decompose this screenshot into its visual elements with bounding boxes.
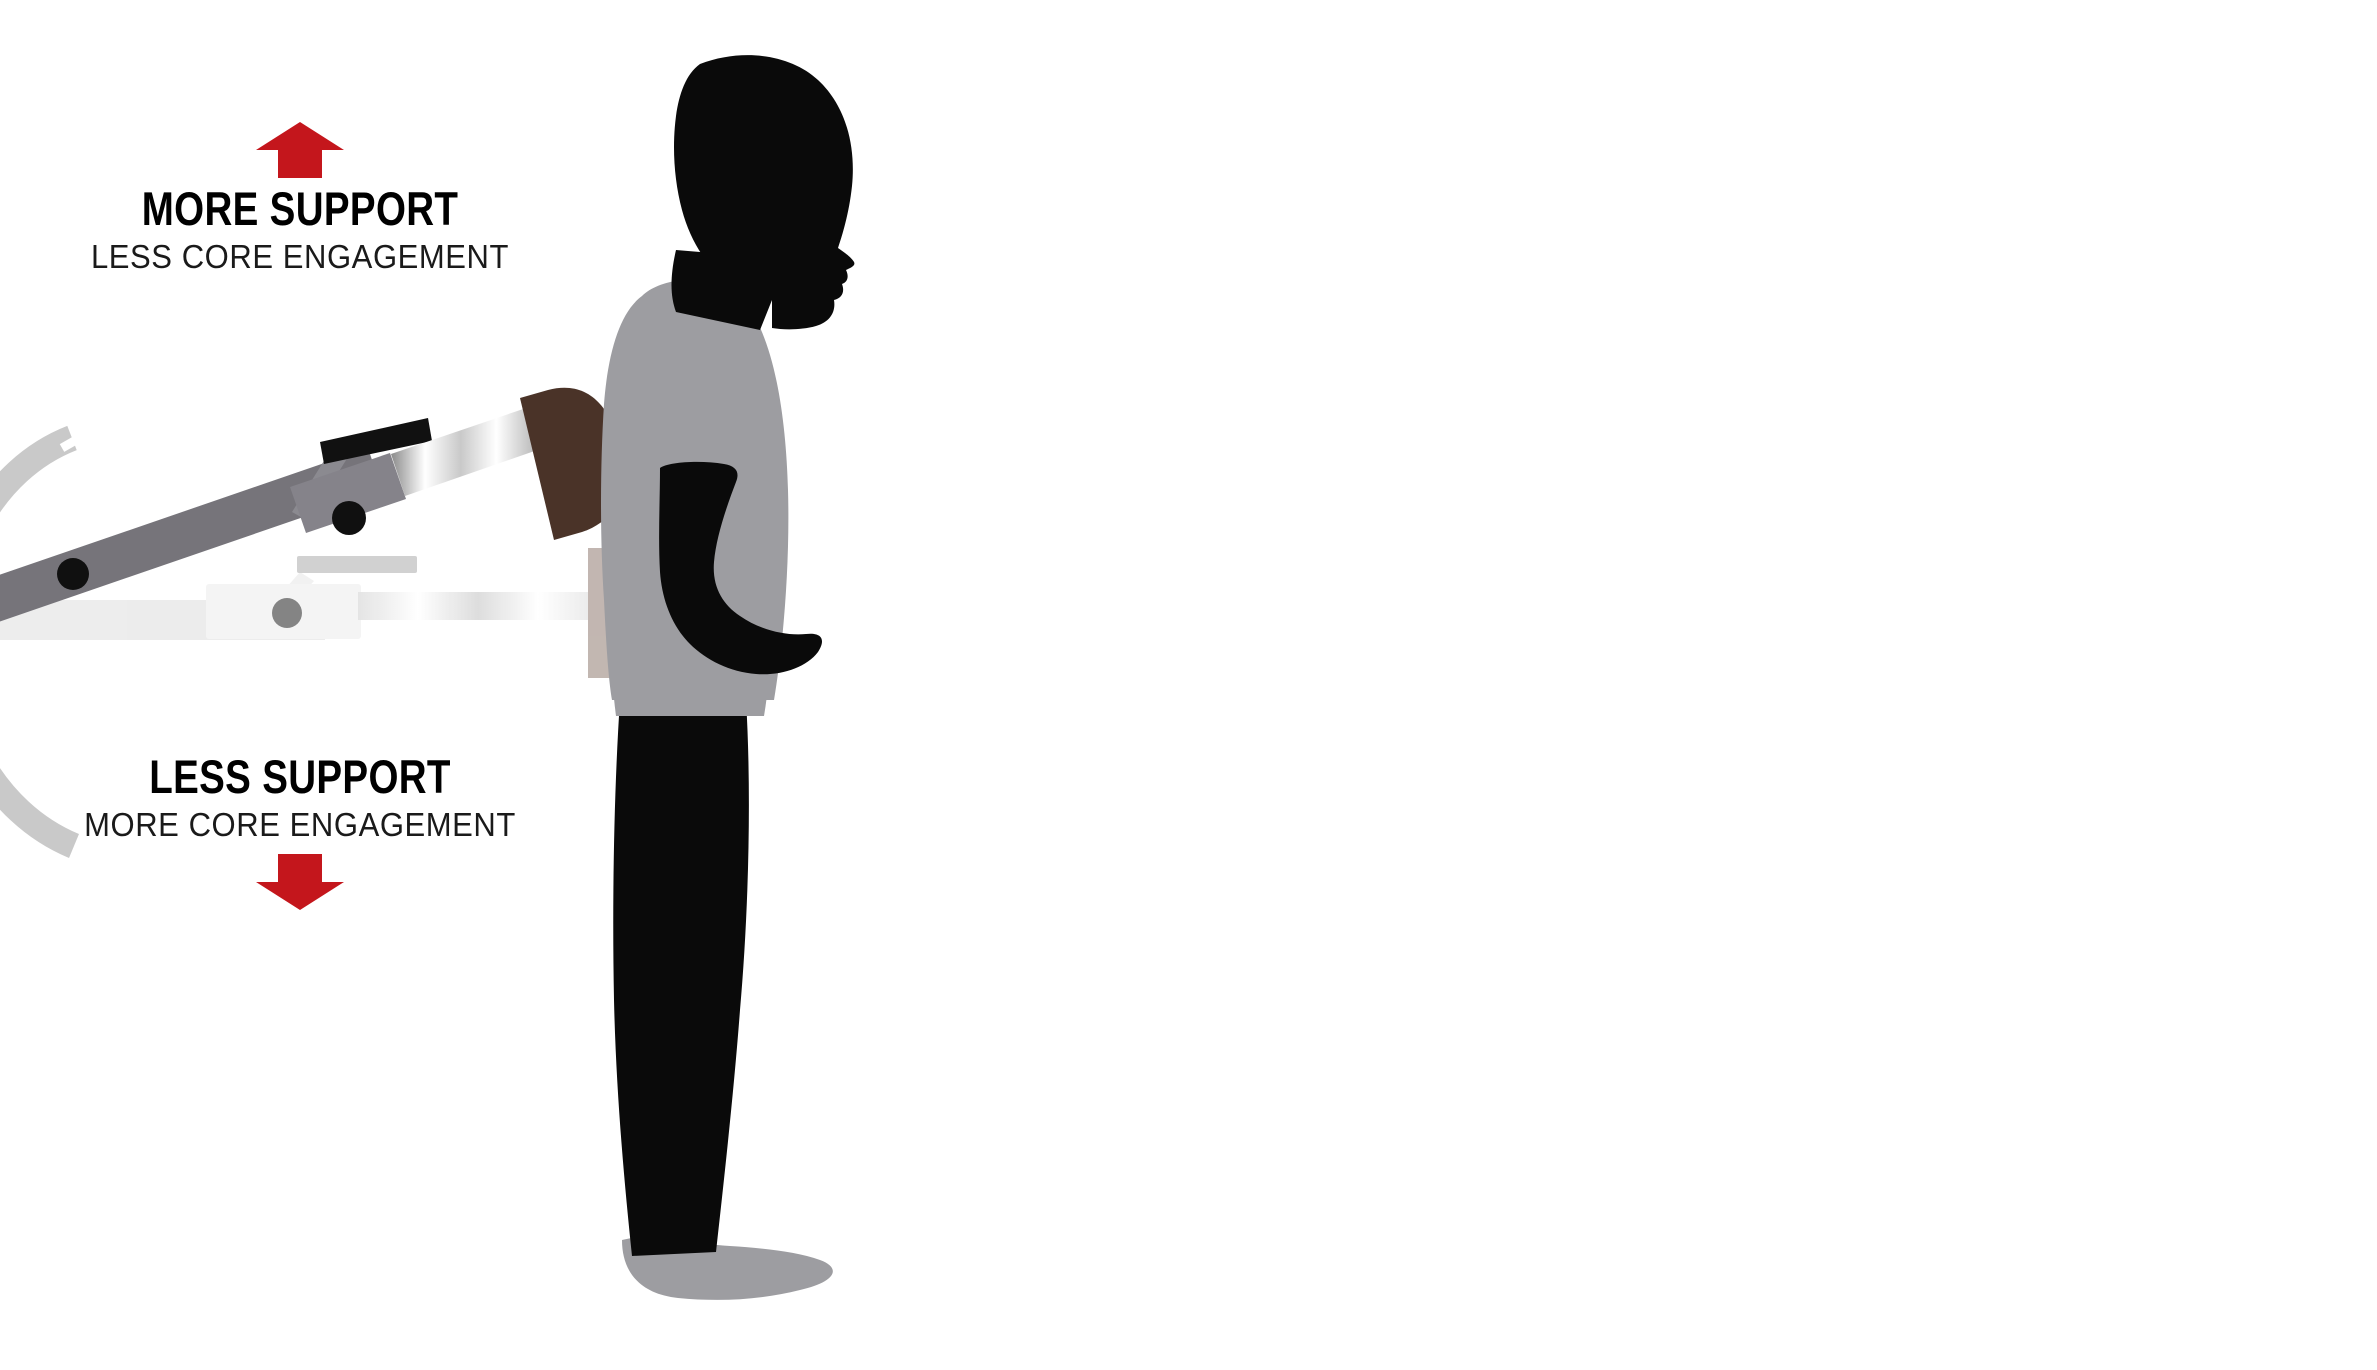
arrow-down-icon — [256, 854, 344, 912]
copy-pane: INCREASED LOAD CAPACITY The Life Fitness… — [1230, 0, 2377, 1370]
marketing-feature-page: MORE SUPPORT LESS CORE ENGAGEMENT LESS S… — [0, 0, 2377, 1370]
callout-more-support: MORE SUPPORT LESS CORE ENGAGEMENT — [20, 120, 580, 276]
illustration-pane: MORE SUPPORT LESS CORE ENGAGEMENT LESS S… — [0, 0, 1230, 1370]
callout-less-support: LESS SUPPORT MORE CORE ENGAGEMENT — [20, 752, 580, 912]
user-silhouette — [601, 55, 854, 1300]
callout-title: LESS SUPPORT — [70, 752, 529, 802]
callout-subtitle: LESS CORE ENGAGEMENT — [37, 238, 563, 276]
callout-subtitle: MORE CORE ENGAGEMENT — [37, 806, 563, 844]
callout-title: MORE SUPPORT — [70, 184, 529, 234]
arrow-up-icon — [256, 120, 344, 178]
